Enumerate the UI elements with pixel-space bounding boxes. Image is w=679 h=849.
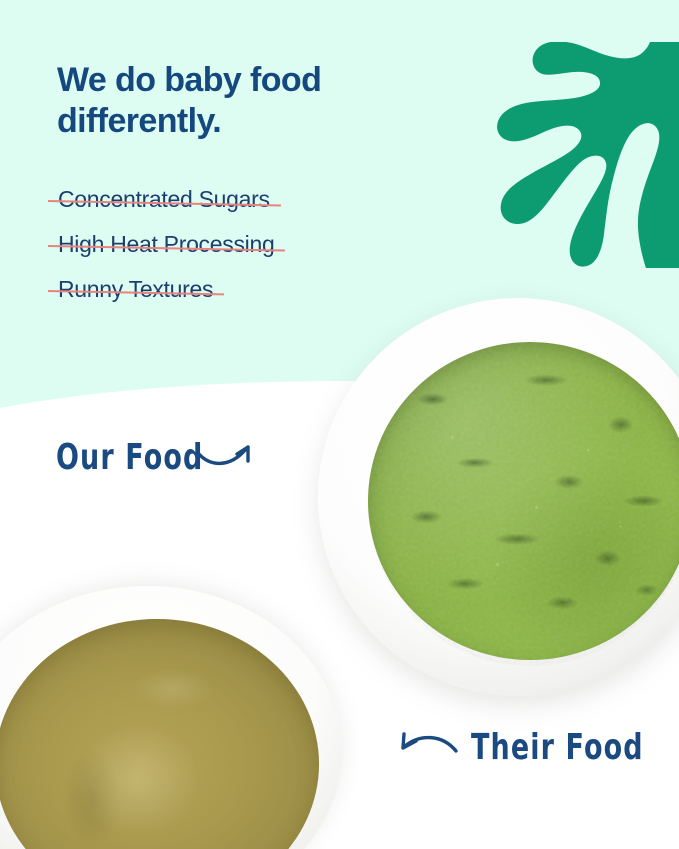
headline-line-1: We do baby food [57, 60, 457, 101]
tan-puree [0, 619, 319, 849]
headline-line-2: differently. [57, 101, 457, 142]
curved-arrow-right-icon [196, 436, 258, 474]
tan-puree-sheen [0, 619, 319, 849]
marketing-poster: We do baby food differently. Concentrate… [0, 0, 679, 849]
our-food-label: Our Food [56, 436, 203, 477]
list-item: High Heat Processing [56, 233, 276, 256]
page-title: We do baby food differently. [57, 60, 457, 143]
green-puree [368, 342, 679, 660]
list-item: Runny Textures [56, 278, 215, 301]
list-item-label: Runny Textures [58, 276, 213, 302]
list-item: Concentrated Sugars [56, 188, 272, 211]
curved-arrow-left-icon [392, 726, 458, 764]
list-item-label: High Heat Processing [58, 231, 274, 257]
their-food-label: Their Food [471, 726, 644, 767]
green-puree-grain [368, 342, 679, 666]
list-item-label: Concentrated Sugars [58, 186, 270, 212]
excluded-items-list: Concentrated Sugars High Heat Processing… [56, 188, 476, 323]
